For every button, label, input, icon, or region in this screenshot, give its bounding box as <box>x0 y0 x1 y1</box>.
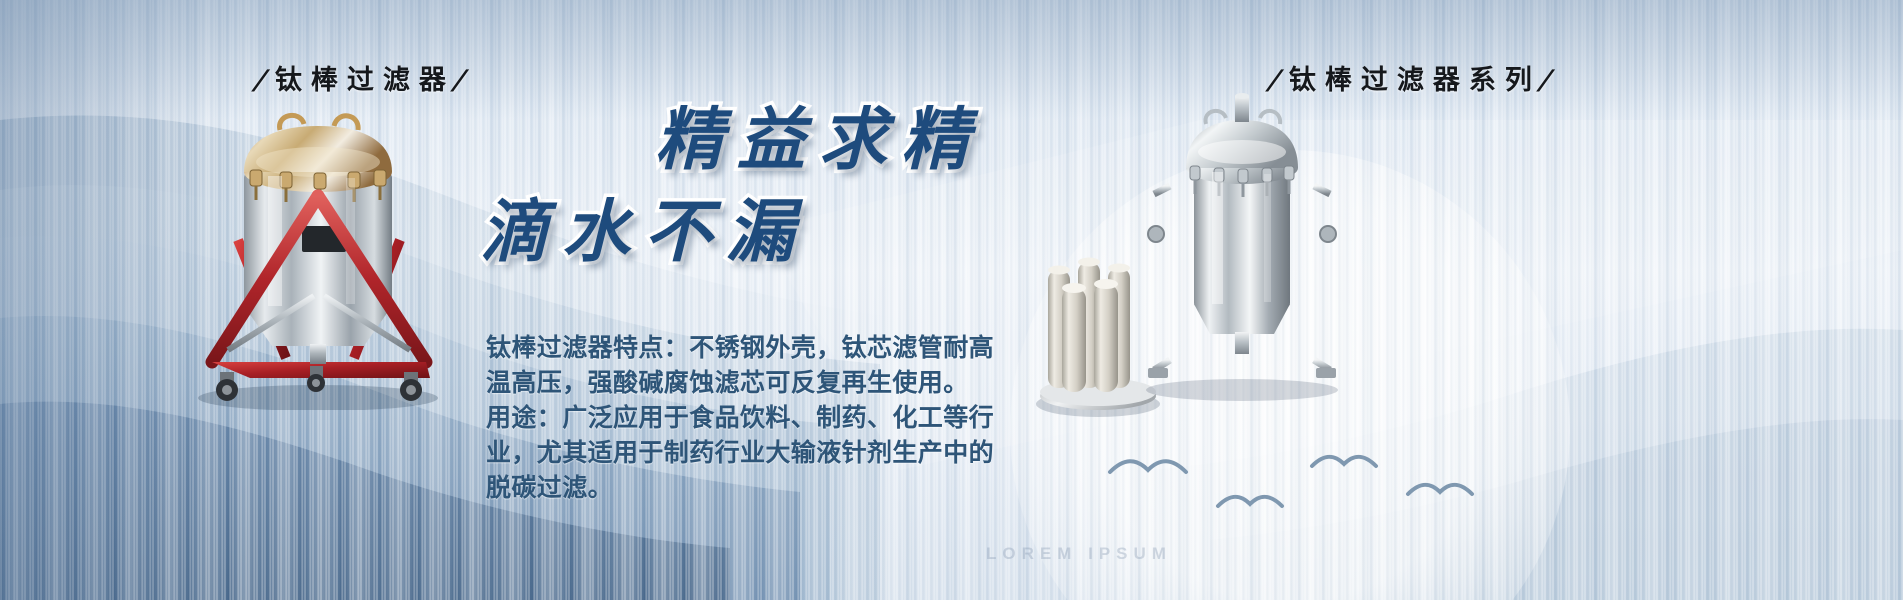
section-title-left: /钛棒过滤器/ <box>256 58 474 97</box>
section-title-right-text: 钛棒过滤器系列 <box>1289 65 1541 96</box>
product-image-red-frame-filter <box>168 100 468 410</box>
promo-banner: /钛棒过滤器/ /钛棒过滤器系列/ 精益求精 滴水不漏 钛棒过滤器特点：不锈钢外… <box>0 0 1903 600</box>
description-line: 脱碳过滤。 <box>486 470 1006 505</box>
description-line: 温高压，强酸碱腐蚀滤芯可反复再生使用。 <box>486 365 1006 400</box>
headline-line-1: 精益求精 <box>655 84 983 183</box>
product-image-steel-frame-filter <box>1132 82 1352 402</box>
bird-silhouettes <box>1090 420 1510 530</box>
slash-close-left: / <box>452 65 477 96</box>
section-title-right: /钛棒过滤器系列/ <box>1270 58 1560 97</box>
watermark-text: LOREM IPSUM <box>986 544 1172 564</box>
description-line: 用途：广泛应用于食品饮料、制药、化工等行 <box>486 400 1006 435</box>
product-description: 钛棒过滤器特点：不锈钢外壳，钛芯滤管耐高 温高压，强酸碱腐蚀滤芯可反复再生使用。… <box>486 330 1006 505</box>
description-line: 钛棒过滤器特点：不锈钢外壳，钛芯滤管耐高 <box>486 330 1006 365</box>
description-line: 业，尤其适用于制药行业大输液针剂生产中的 <box>486 435 1006 470</box>
slash-close-right: / <box>1538 65 1563 96</box>
section-title-left-text: 钛棒过滤器 <box>275 65 455 96</box>
headline-line-2: 滴水不漏 <box>480 176 808 275</box>
